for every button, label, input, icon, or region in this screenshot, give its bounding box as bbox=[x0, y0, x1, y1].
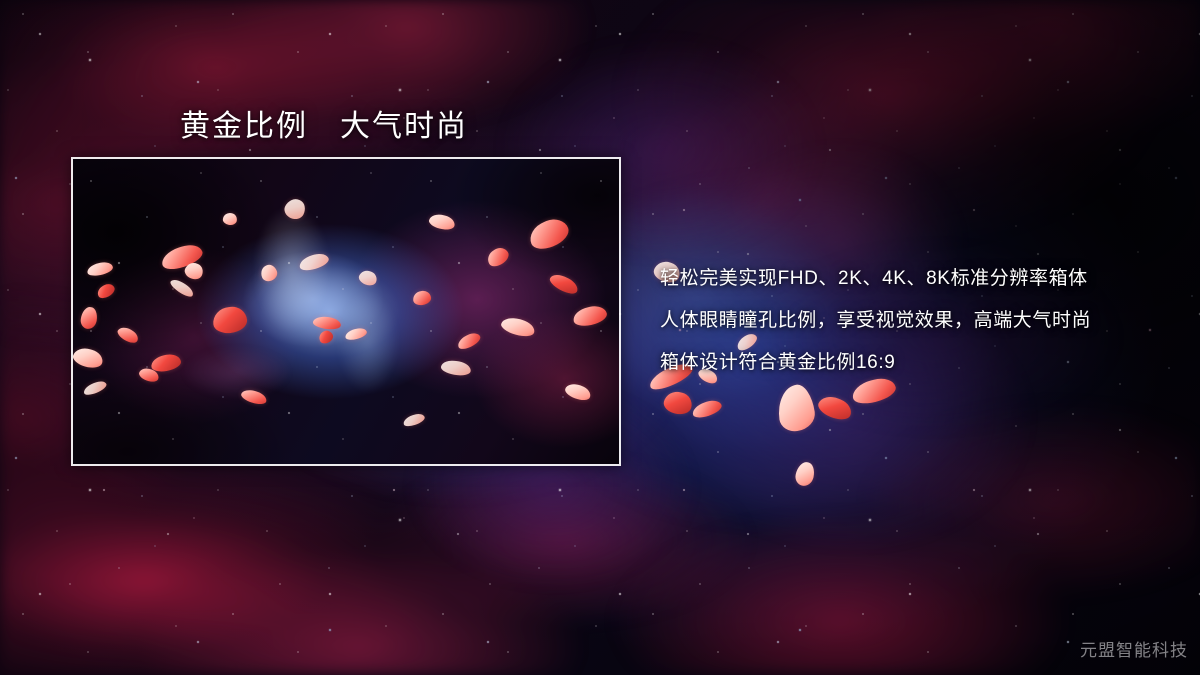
company-watermark: 元盟智能科技 bbox=[1080, 636, 1188, 661]
page-title: 黄金比例 大气时尚 bbox=[180, 101, 468, 145]
slide-canvas: 黄金比例 大气时尚 轻松完美实现FHD、2K、4K、8K标准分辨率箱体 人体眼睛… bbox=[0, 0, 1200, 675]
description-line-2: 人体眼睛瞳孔比例，享受视觉效果，高端大气时尚 bbox=[660, 300, 1160, 342]
image-frame bbox=[71, 157, 621, 466]
description-line-3: 箱体设计符合黄金比例16:9 bbox=[660, 342, 1160, 384]
frame-starfield bbox=[73, 159, 619, 464]
description-line-1: 轻松完美实现FHD、2K、4K、8K标准分辨率箱体 bbox=[660, 258, 1160, 300]
description-text-block: 轻松完美实现FHD、2K、4K、8K标准分辨率箱体 人体眼睛瞳孔比例，享受视觉效… bbox=[660, 258, 1160, 384]
